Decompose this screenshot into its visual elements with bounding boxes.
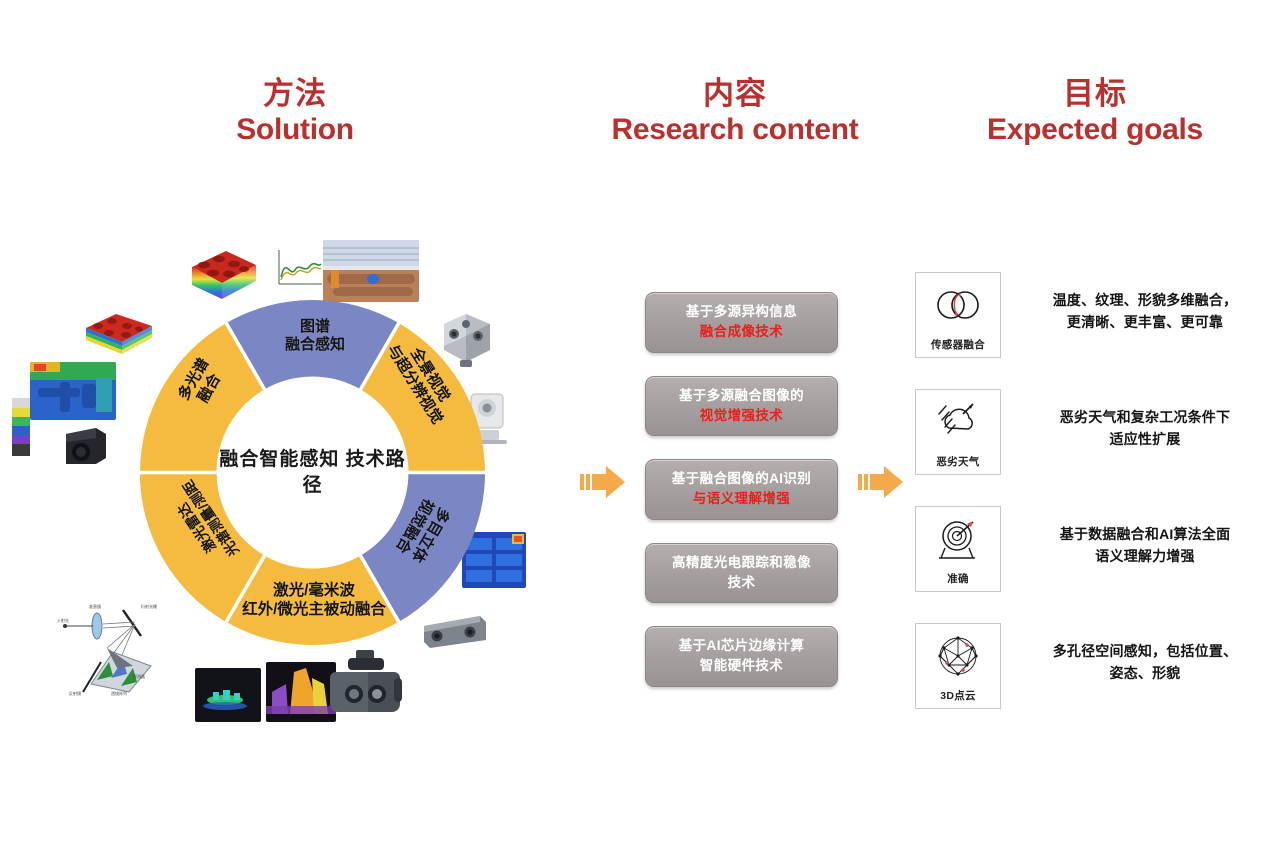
research-item-3-text: 高精度光电跟踪和稳像 技术 <box>672 553 811 594</box>
expected-goals-list: 传感器融合 温度、纹理、形貌多维融合， 更清晰、更丰富、更可靠 <box>915 272 1265 740</box>
svg-text:准直镜: 准直镜 <box>89 603 101 609</box>
column-header-expected-goals: 目标 Expected goals <box>925 76 1265 148</box>
goal-icon-caption-2: 准确 <box>947 571 969 586</box>
goal-icon-caption-3: 3D点云 <box>940 688 976 703</box>
header-goals-cn: 目标 <box>925 76 1265 112</box>
black-camera-thumb <box>58 424 110 468</box>
point-cloud-icon <box>916 624 1000 688</box>
svg-text:入射光: 入射光 <box>57 617 69 623</box>
research-item-2-lead: 基于融合图像的AI识别 <box>672 471 811 486</box>
research-item-0-text: 基于多源异构信息 融合成像技术 <box>686 302 797 343</box>
goal-icon-card-3[interactable]: 3D点云 <box>915 623 1001 709</box>
spectrum-strip-thumb <box>8 398 34 463</box>
header-content-en: Research content <box>570 112 900 148</box>
research-item-1-lead: 基于多源融合图像的 <box>679 388 804 403</box>
research-content-list: 基于多源异构信息 融合成像技术 基于多源融合图像的 视觉增强技术 基于融合图像的… <box>645 292 838 710</box>
goal-text-3: 多孔径空间感知，包括位置、 姿态、形貌 <box>1025 641 1265 684</box>
research-item-0-highlight: 融合成像技术 <box>700 324 783 339</box>
goal-icon-card-2[interactable]: 准确 <box>915 506 1001 592</box>
bad-weather-icon <box>916 390 1000 454</box>
arrow-content-to-goals <box>858 462 904 502</box>
research-item-2-highlight: 与语义理解增强 <box>693 491 790 506</box>
lidar-intensity-thumb <box>266 662 336 722</box>
research-item-2-text: 基于融合图像的AI识别 与语义理解增强 <box>672 469 811 510</box>
header-solution-cn: 方法 <box>160 76 430 112</box>
eo-turret-thumb <box>330 648 404 724</box>
target-accuracy-icon <box>916 507 1000 571</box>
hyperspectral-cube-thumb <box>186 243 260 305</box>
goal-icon-card-0[interactable]: 传感器融合 <box>915 272 1001 358</box>
spectral-plot-thumb <box>270 244 326 296</box>
research-item-0[interactable]: 基于多源异构信息 融合成像技术 <box>645 292 838 353</box>
wheel-center-hub: 融合智能感知 技术路径 <box>217 377 408 568</box>
goal-text-2: 基于数据融合和AI算法全面 语义理解力增强 <box>1025 524 1265 567</box>
arrow-solution-to-content <box>580 462 626 502</box>
research-item-0-lead: 基于多源异构信息 <box>686 304 797 319</box>
goal-text-0: 温度、纹理、形貌多维融合， 更清晰、更丰富、更可靠 <box>1025 290 1265 333</box>
solution-wheel: 融合智能感知 技术路径 图谱 融合感知 全景视觉 与超分辨视觉 多目立体 视觉融… <box>140 300 485 645</box>
svg-text:反射镜: 反射镜 <box>69 690 81 696</box>
research-item-1-text: 基于多源融合图像的 视觉增强技术 <box>679 386 804 427</box>
research-item-2[interactable]: 基于融合图像的AI识别 与语义理解增强 <box>645 459 838 520</box>
wheel-label-active: 激光/毫米波 红外/微光主被动融合 <box>208 582 420 619</box>
column-header-research-content: 内容 Research content <box>570 76 900 148</box>
goal-row-bad-weather: 恶劣天气 恶劣天气和复杂工况条件下 适应性扩展 <box>915 389 1265 499</box>
header-goals-en: Expected goals <box>925 112 1265 148</box>
thermal-robot-thumb <box>30 362 116 420</box>
header-solution-en: Solution <box>160 112 430 148</box>
column-header-solution: 方法 Solution <box>160 76 430 148</box>
research-item-1-highlight: 视觉增强技术 <box>700 408 783 423</box>
goal-row-accuracy: 准确 基于数据融合和AI算法全面 语义理解力增强 <box>915 506 1265 616</box>
goal-icon-caption-0: 传感器融合 <box>931 337 985 352</box>
goal-row-sensor-fusion: 传感器融合 温度、纹理、形貌多维融合， 更清晰、更丰富、更可靠 <box>915 272 1265 382</box>
research-item-3[interactable]: 高精度光电跟踪和稳像 技术 <box>645 543 838 604</box>
research-item-4[interactable]: 基于AI芯片边缘计算 智能硬件技术 <box>645 626 838 687</box>
lidar-pointcloud-thumb <box>195 668 261 722</box>
goal-icon-caption-1: 恶劣天气 <box>936 454 979 469</box>
wheel-label-tupu: 图谱 融合感知 <box>240 318 390 354</box>
goal-icon-card-1[interactable]: 恶劣天气 <box>915 389 1001 475</box>
research-item-4-text: 基于AI芯片边缘计算 智能硬件技术 <box>679 636 805 677</box>
research-item-1[interactable]: 基于多源融合图像的 视觉增强技术 <box>645 376 838 437</box>
industrial-pipes-thumb <box>323 240 419 302</box>
sensor-fusion-icon <box>916 273 1000 337</box>
svg-text:探测器: 探测器 <box>133 673 145 679</box>
goal-text-1: 恶劣天气和复杂工况条件下 适应性扩展 <box>1025 407 1265 450</box>
goal-row-point-cloud: 3D点云 多孔径空间感知，包括位置、 姿态、形貌 <box>915 623 1265 733</box>
wheel-center-label: 融合智能感知 技术路径 <box>217 447 408 498</box>
svg-text:透镜阵列: 透镜阵列 <box>111 690 127 696</box>
header-content-cn: 内容 <box>570 76 900 112</box>
